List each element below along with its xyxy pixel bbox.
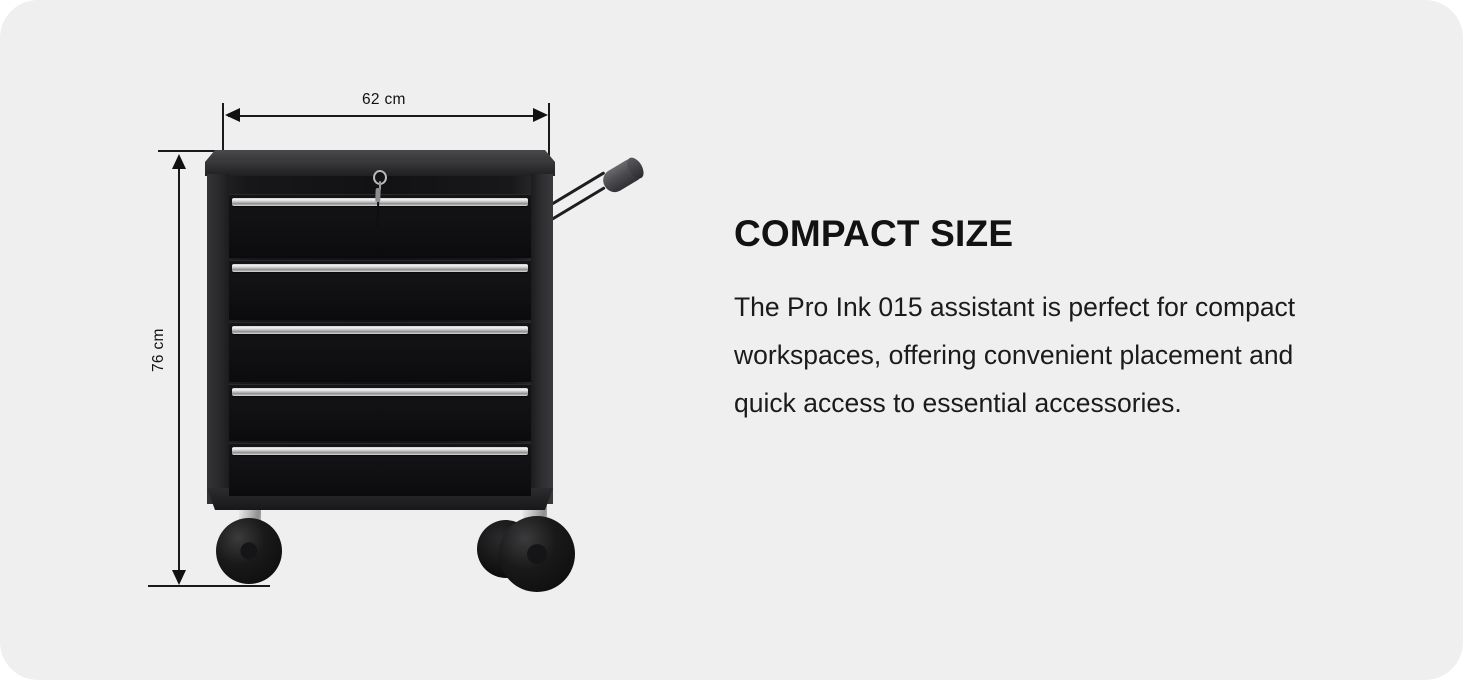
drawer-handle-4[interactable] (232, 388, 528, 396)
cabinet-rail-left (207, 174, 229, 504)
push-handle-icon (543, 158, 668, 228)
dimension-label-width: 62 cm (362, 91, 406, 109)
product-illustration: 62 cm 76 cm (0, 0, 700, 680)
caster-tire-left (216, 518, 282, 584)
drawer-3[interactable] (229, 322, 531, 382)
cabinet-rail-right (531, 174, 553, 504)
dimension-arrow-line-height (178, 160, 180, 578)
drawer-handle-2[interactable] (232, 264, 528, 272)
page-title: COMPACT SIZE (734, 214, 1354, 255)
caster-wheel-icon-right (493, 496, 585, 594)
drawer-handle-5[interactable] (232, 447, 528, 455)
lock-icon[interactable] (372, 170, 388, 188)
caster-tire-right (499, 516, 575, 592)
drawer-1[interactable] (229, 194, 531, 258)
caster-wheel-icon-left (213, 500, 291, 588)
drawer-4[interactable] (229, 384, 531, 441)
dimension-arrowhead-bottom (172, 570, 186, 585)
feature-card: 62 cm 76 cm (0, 0, 1463, 680)
drawer-5[interactable] (229, 443, 531, 496)
tool-cabinet (205, 148, 555, 520)
dimension-label-height: 76 cm (150, 328, 168, 372)
handle-rod-lower (544, 186, 606, 225)
drawer-handle-3[interactable] (232, 326, 528, 334)
dimension-arrowhead-left (225, 108, 240, 122)
dimension-arrowhead-top (172, 154, 186, 169)
dimension-arrow-line-width (228, 115, 544, 117)
handle-grip (599, 155, 647, 196)
drawer-2[interactable] (229, 260, 531, 320)
page-root: 62 cm 76 cm (0, 0, 1463, 680)
feature-copy: COMPACT SIZE The Pro Ink 015 assistant i… (734, 214, 1354, 427)
dimension-extension-line-left-top (222, 103, 224, 153)
dimension-arrowhead-right (533, 108, 548, 122)
feature-description: The Pro Ink 015 assistant is perfect for… (734, 255, 1334, 428)
